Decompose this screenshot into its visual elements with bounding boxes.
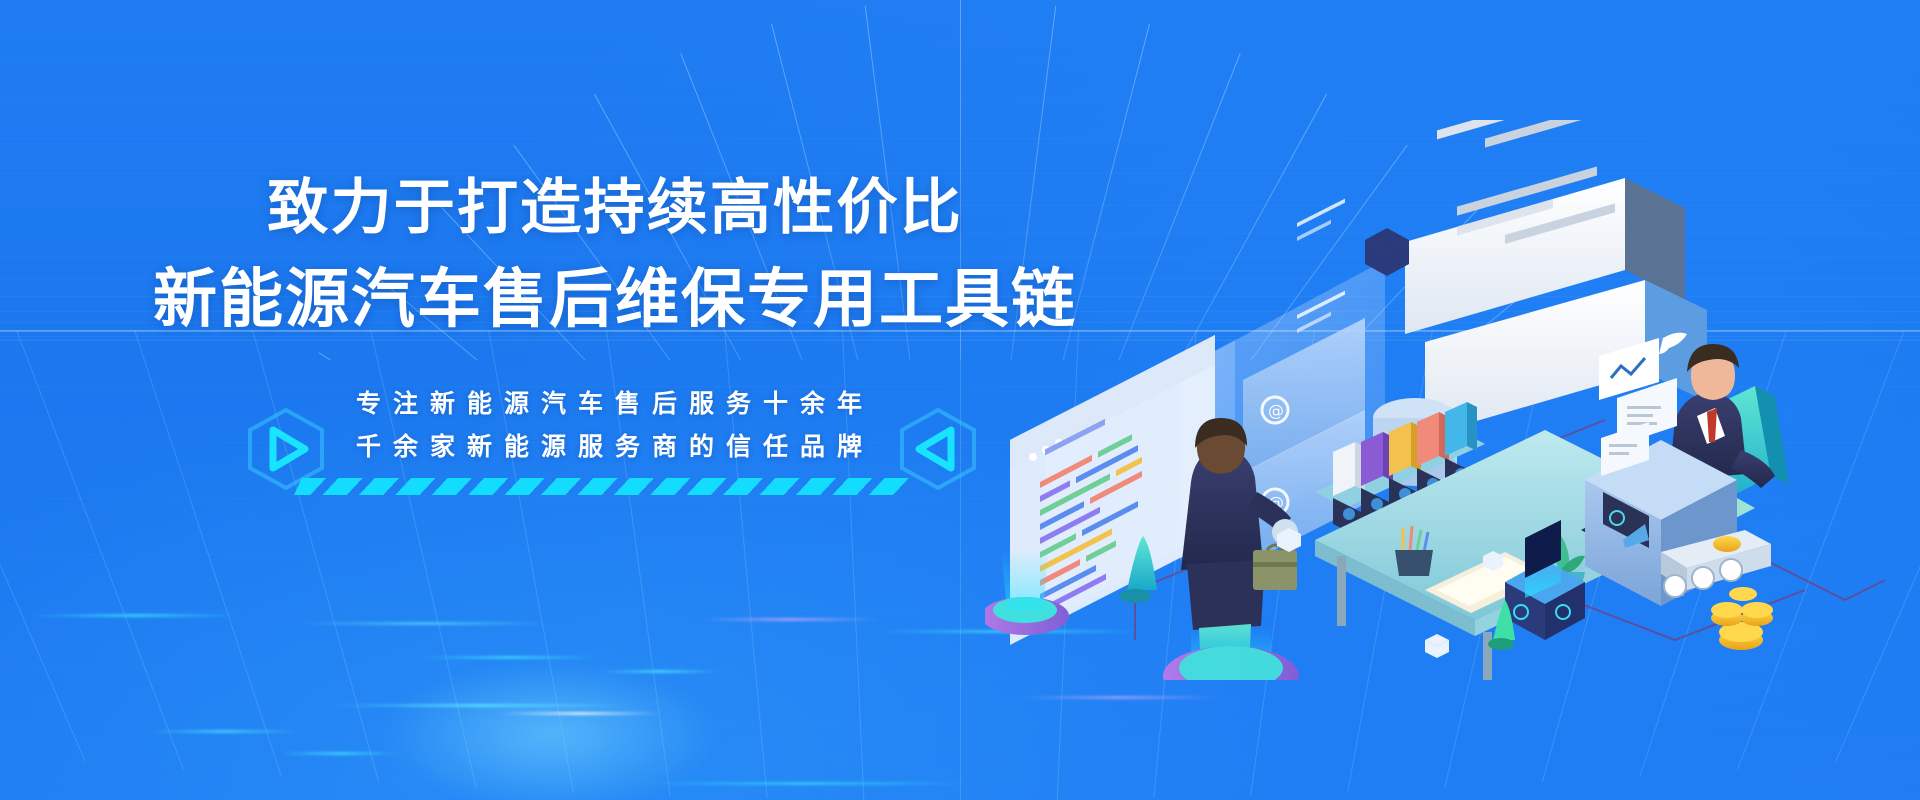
diagonal-stripe-bar	[294, 478, 912, 495]
gold-coin-stack	[1711, 587, 1773, 650]
isometric-office-teamwork-illustration: @ @	[985, 120, 1920, 680]
glow-pedestal	[1163, 646, 1299, 680]
hero-banner: 致力于打造持续高性价比 新能源汽车售后维保专用工具链 专注新能源汽车售后服务十余…	[0, 0, 1920, 800]
floating-cube	[1425, 634, 1449, 658]
svg-text:@: @	[1268, 401, 1284, 420]
briefcase-icon	[1253, 545, 1297, 590]
